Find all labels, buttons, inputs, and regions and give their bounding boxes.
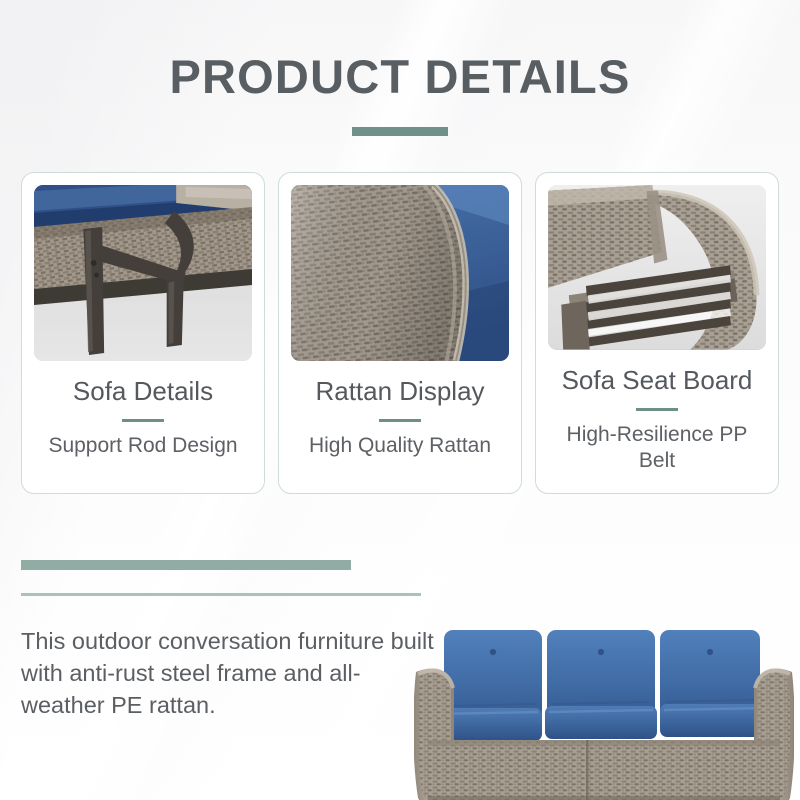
card-accent-rule bbox=[379, 419, 421, 422]
feature-card-sofa-seat-board[interactable]: Sofa Seat Board High-Resilience PP Belt bbox=[535, 172, 779, 494]
card-subtitle: High-Resilience PP Belt bbox=[548, 422, 766, 476]
feature-card-row: Sofa Details Support Rod Design bbox=[0, 172, 800, 494]
sofa-support-rod-photo bbox=[34, 185, 252, 361]
three-seat-outdoor-sofa-photo bbox=[414, 630, 794, 800]
bottom-section: This outdoor conversation furniture buil… bbox=[0, 560, 800, 800]
title-accent-rule bbox=[352, 127, 448, 136]
card-accent-rule bbox=[122, 419, 164, 422]
card-subtitle: Support Rod Design bbox=[48, 433, 237, 460]
product-details-page: PRODUCT DETAILS bbox=[0, 0, 800, 800]
header: PRODUCT DETAILS bbox=[0, 0, 800, 136]
divider-bar-thick bbox=[21, 560, 351, 570]
card-subtitle: High Quality Rattan bbox=[309, 433, 491, 460]
card-title: Sofa Seat Board bbox=[562, 366, 753, 396]
sofa-seat-board-photo bbox=[548, 185, 766, 350]
card-title: Rattan Display bbox=[315, 377, 484, 407]
rattan-weave-photo bbox=[291, 185, 509, 361]
divider-bar-thin bbox=[21, 593, 421, 596]
card-accent-rule bbox=[636, 408, 678, 411]
page-title: PRODUCT DETAILS bbox=[0, 52, 800, 101]
description-text: This outdoor conversation furniture buil… bbox=[21, 626, 441, 722]
card-title: Sofa Details bbox=[73, 377, 213, 407]
feature-card-sofa-details[interactable]: Sofa Details Support Rod Design bbox=[21, 172, 265, 494]
feature-card-rattan-display[interactable]: Rattan Display High Quality Rattan bbox=[278, 172, 522, 494]
